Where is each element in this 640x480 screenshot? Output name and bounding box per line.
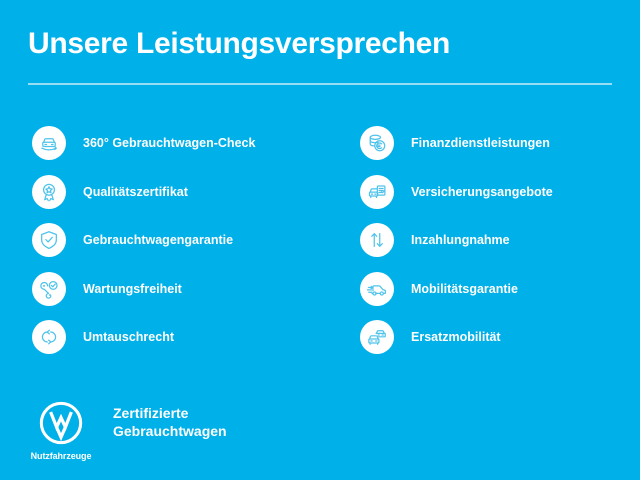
benefit-item: Gebrauchtwagengarantie: [32, 223, 302, 257]
benefit-label: 360° Gebrauchtwagen-Check: [83, 135, 255, 151]
two-cars-icon: [360, 320, 394, 354]
benefit-label: Mobilitätsgarantie: [411, 281, 518, 297]
shield-check-icon: [32, 223, 66, 257]
benefit-item: Mobilitätsgarantie: [360, 272, 630, 306]
brand-mark: Nutzfahrzeuge: [30, 400, 92, 461]
car-document-check-icon: [360, 175, 394, 209]
benefit-item: Inzahlungnahme: [360, 223, 630, 257]
benefit-label: Wartungsfreiheit: [83, 281, 182, 297]
exchange-arrows-icon: [32, 320, 66, 354]
benefit-label: Ersatzmobilität: [411, 329, 501, 345]
benefit-list-left: 360° Gebrauchtwagen-Check Qualitätszerti…: [32, 126, 302, 369]
header: Unsere Leistungsversprechen: [28, 26, 612, 85]
van-motion-icon: [360, 272, 394, 306]
benefit-item: 360° Gebrauchtwagen-Check: [32, 126, 302, 160]
footer-line-2: Gebrauchtwagen: [113, 422, 227, 440]
footer-text: Zertifizierte Gebrauchtwagen: [113, 404, 227, 440]
wrench-check-icon: [32, 272, 66, 306]
brand-subtitle: Nutzfahrzeuge: [30, 451, 92, 461]
car-360-check-icon: [32, 126, 66, 160]
benefit-label: Qualitätszertifikat: [83, 184, 188, 200]
title-divider: [28, 83, 612, 85]
coins-euro-icon: [360, 126, 394, 160]
benefit-item: Versicherungsangebote: [360, 175, 630, 209]
footer-line-1: Zertifizierte: [113, 404, 227, 422]
benefit-item: Finanzdienstleistungen: [360, 126, 630, 160]
benefit-item: Qualitätszertifikat: [32, 175, 302, 209]
quality-rosette-icon: [32, 175, 66, 209]
benefit-list-right: Finanzdienstleistungen Versicherungsange…: [360, 126, 630, 369]
benefit-label: Versicherungsangebote: [411, 184, 553, 200]
benefit-label: Finanzdienstleistungen: [411, 135, 550, 151]
page-title: Unsere Leistungsversprechen: [28, 26, 612, 62]
benefit-label: Gebrauchtwagengarantie: [83, 232, 233, 248]
benefit-item: Wartungsfreiheit: [32, 272, 302, 306]
benefit-item: Umtauschrecht: [32, 320, 302, 354]
volkswagen-logo-icon: [38, 400, 84, 446]
promise-slide: Unsere Leistungsversprechen 360° Gebrauc…: [0, 0, 640, 480]
up-down-arrows-icon: [360, 223, 394, 257]
benefit-label: Umtauschrecht: [83, 329, 174, 345]
footer-brand: Nutzfahrzeuge Zertifizierte Gebrauchtwag…: [30, 400, 227, 461]
benefit-label: Inzahlungnahme: [411, 232, 510, 248]
benefit-item: Ersatzmobilität: [360, 320, 630, 354]
